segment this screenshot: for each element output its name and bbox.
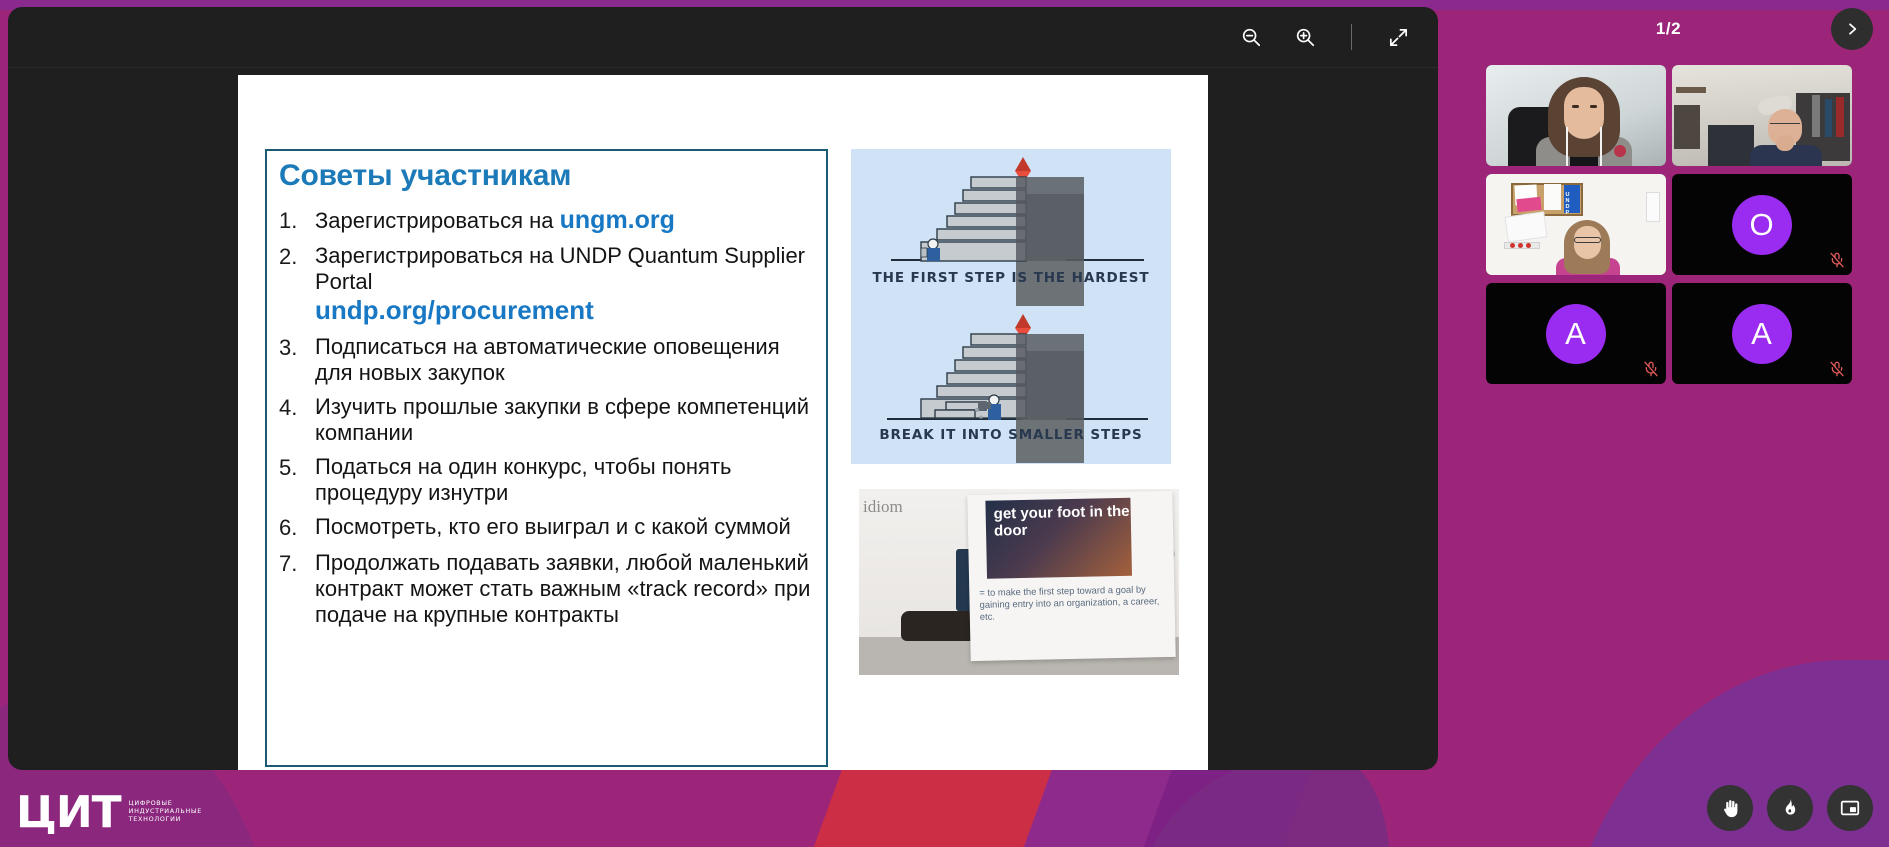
list-item-body: Зарегистрироваться на xyxy=(315,208,560,233)
shelf-left-lower xyxy=(1674,105,1700,149)
person-face xyxy=(1564,87,1604,139)
meeting-action-bar xyxy=(1707,785,1873,831)
participant-tile-2[interactable] xyxy=(1672,65,1852,166)
desk-papers xyxy=(1504,211,1547,242)
book-blue xyxy=(1825,99,1832,137)
list-item: 3. Подписаться на автоматические оповеще… xyxy=(279,334,819,386)
list-item: 2. Зарегистрироваться на UNDP Quantum Su… xyxy=(279,243,819,326)
person-eye-left xyxy=(1572,105,1579,108)
headphone-cord-left xyxy=(1566,127,1568,166)
participant-tile-6[interactable]: A xyxy=(1672,283,1852,384)
person-glasses xyxy=(1574,237,1601,243)
slide-title: Советы участникам xyxy=(279,159,571,193)
list-item: 6. Посмотреть, кто его выиграл и с какой… xyxy=(279,514,819,542)
stairs-meme-image: THE FIRST STEP IS THE HARDEST xyxy=(851,149,1171,464)
participants-panel: 1/2 xyxy=(1448,0,1889,847)
list-item-text: Изучить прошлые закупки в сфере компетен… xyxy=(315,394,819,446)
logo-subtitle-line-1: ЦИФРОВЫЕ xyxy=(129,799,202,807)
fullscreen-button[interactable] xyxy=(1376,15,1420,59)
power-strip-light-3 xyxy=(1526,243,1531,248)
next-page-button[interactable] xyxy=(1831,8,1873,50)
book-grey xyxy=(1812,95,1820,137)
list-item-number: 1. xyxy=(279,207,315,235)
list-item-text: Зарегистрироваться на ungm.org xyxy=(315,207,819,234)
participant-tile-grid: UNDP O xyxy=(1448,65,1889,384)
participants-pager: 1/2 xyxy=(1448,0,1889,58)
list-item-number: 6. xyxy=(279,514,315,542)
stairs-illustration: THE FIRST STEP IS THE HARDEST xyxy=(851,149,1171,464)
avatar: A xyxy=(1546,304,1606,364)
background-blob-middle xyxy=(1130,760,1390,847)
power-strip-light-2 xyxy=(1518,243,1523,248)
idiom-definition: = to make the first step toward a goal b… xyxy=(979,583,1170,623)
list-item: 1. Зарегистрироваться на ungm.org xyxy=(279,207,819,235)
shelf-left xyxy=(1676,87,1706,93)
mic-off-icon xyxy=(1643,360,1659,378)
list-item-number: 7. xyxy=(279,550,315,578)
logo-subtitle: ЦИФРОВЫЕ ИНДУСТРИАЛЬНЫЕ ТЕХНОЛОГИИ xyxy=(129,799,202,833)
logo-subtitle-line-3: ТЕХНОЛОГИИ xyxy=(129,815,202,823)
participant-tile-1[interactable] xyxy=(1486,65,1666,166)
person-glasses xyxy=(1770,123,1800,128)
reaction-button[interactable] xyxy=(1767,785,1813,831)
list-item-number: 4. xyxy=(279,394,315,422)
person-eye-right xyxy=(1590,105,1597,108)
lapel-flower xyxy=(1614,145,1626,157)
zoom-out-button[interactable] xyxy=(1229,15,1273,59)
presentation-stage: Советы участникам 1. Зарегистрироваться … xyxy=(8,7,1438,770)
picture-in-picture-icon xyxy=(1839,797,1861,819)
video-conference-app: Советы участникам 1. Зарегистрироваться … xyxy=(0,0,1889,847)
idiom-card: get your foot in the door = to make the … xyxy=(967,491,1175,661)
undp-poster-text: UNDP xyxy=(1566,192,1570,216)
list-item: 5. Податься на один конкурс, чтобы понят… xyxy=(279,454,819,506)
slide-page: Советы участникам 1. Зарегистрироваться … xyxy=(238,75,1208,770)
list-item-text: Продолжать подавать заявки, любой малень… xyxy=(315,550,819,628)
idiom-headline: get your foot in the door xyxy=(994,503,1132,540)
list-item-text: Зарегистрироваться на UNDP Quantum Suppl… xyxy=(315,243,819,326)
logo-mark: ЦИТ xyxy=(16,793,121,833)
zoom-in-button[interactable] xyxy=(1283,15,1327,59)
participant-tile-4[interactable]: O xyxy=(1672,174,1852,275)
slide-toolbar xyxy=(8,7,1438,68)
list-item: 7. Продолжать подавать заявки, любой мал… xyxy=(279,550,819,628)
list-item-body: Зарегистрироваться на UNDP Quantum Suppl… xyxy=(315,243,805,294)
slide-viewport[interactable]: Советы участникам 1. Зарегистрироваться … xyxy=(8,68,1438,770)
dark-furniture xyxy=(1708,125,1754,166)
list-item-number: 2. xyxy=(279,243,315,271)
headphone-cord-right xyxy=(1600,127,1602,166)
link-undp-procurement[interactable]: undp.org/procurement xyxy=(315,295,819,326)
participant-tile-5[interactable]: A xyxy=(1486,283,1666,384)
idiom-caption: idiom xyxy=(863,497,903,517)
list-item-text: Податься на один конкурс, чтобы понять п… xyxy=(315,454,819,506)
foot-in-door-image: idiom get your foot in the door = to mak… xyxy=(859,489,1179,675)
person-hand xyxy=(1776,135,1794,151)
shoe-graphic xyxy=(901,549,965,641)
list-item-number: 3. xyxy=(279,334,315,362)
list-item-number: 5. xyxy=(279,454,315,482)
book-red xyxy=(1836,97,1844,137)
idiom-photo: get your foot in the door xyxy=(985,498,1132,579)
tips-list: 1. Зарегистрироваться на ungm.org 2. Зар… xyxy=(279,207,819,636)
chevron-right-icon xyxy=(1844,21,1860,37)
list-item-text: Подписаться на автоматические оповещения… xyxy=(315,334,819,386)
participant-tile-3[interactable]: UNDP xyxy=(1486,174,1666,275)
pinned-paper-2 xyxy=(1544,184,1561,210)
fire-icon xyxy=(1779,797,1801,819)
list-item: 4. Изучить прошлые закупки в сфере компе… xyxy=(279,394,819,446)
link-ungm[interactable]: ungm.org xyxy=(560,206,675,234)
stairs-caption-bottom: BREAK IT INTO SMALLER STEPS xyxy=(879,427,1142,443)
avatar: O xyxy=(1732,195,1792,255)
wall-document xyxy=(1646,192,1660,222)
logo-subtitle-line-2: ИНДУСТРИАЛЬНЫЕ xyxy=(129,807,202,815)
tips-box: Советы участникам 1. Зарегистрироваться … xyxy=(265,149,828,767)
pinned-poster-pink xyxy=(1516,197,1541,212)
page-indicator: 1/2 xyxy=(1656,19,1681,39)
power-strip-light-1 xyxy=(1510,243,1515,248)
list-item-text: Посмотреть, кто его выиграл и с какой су… xyxy=(315,514,819,540)
mic-off-icon xyxy=(1829,251,1845,269)
avatar: A xyxy=(1732,304,1792,364)
mic-off-icon xyxy=(1829,360,1845,378)
toolbar-divider xyxy=(1351,24,1352,50)
raised-hand-icon xyxy=(1719,797,1742,820)
brand-logo: ЦИТ ЦИФРОВЫЕ ИНДУСТРИАЛЬНЫЕ ТЕХНОЛОГИИ xyxy=(16,793,202,833)
stairs-caption-top: THE FIRST STEP IS THE HARDEST xyxy=(873,270,1150,286)
layout-button[interactable] xyxy=(1827,785,1873,831)
raise-hand-button[interactable] xyxy=(1707,785,1753,831)
